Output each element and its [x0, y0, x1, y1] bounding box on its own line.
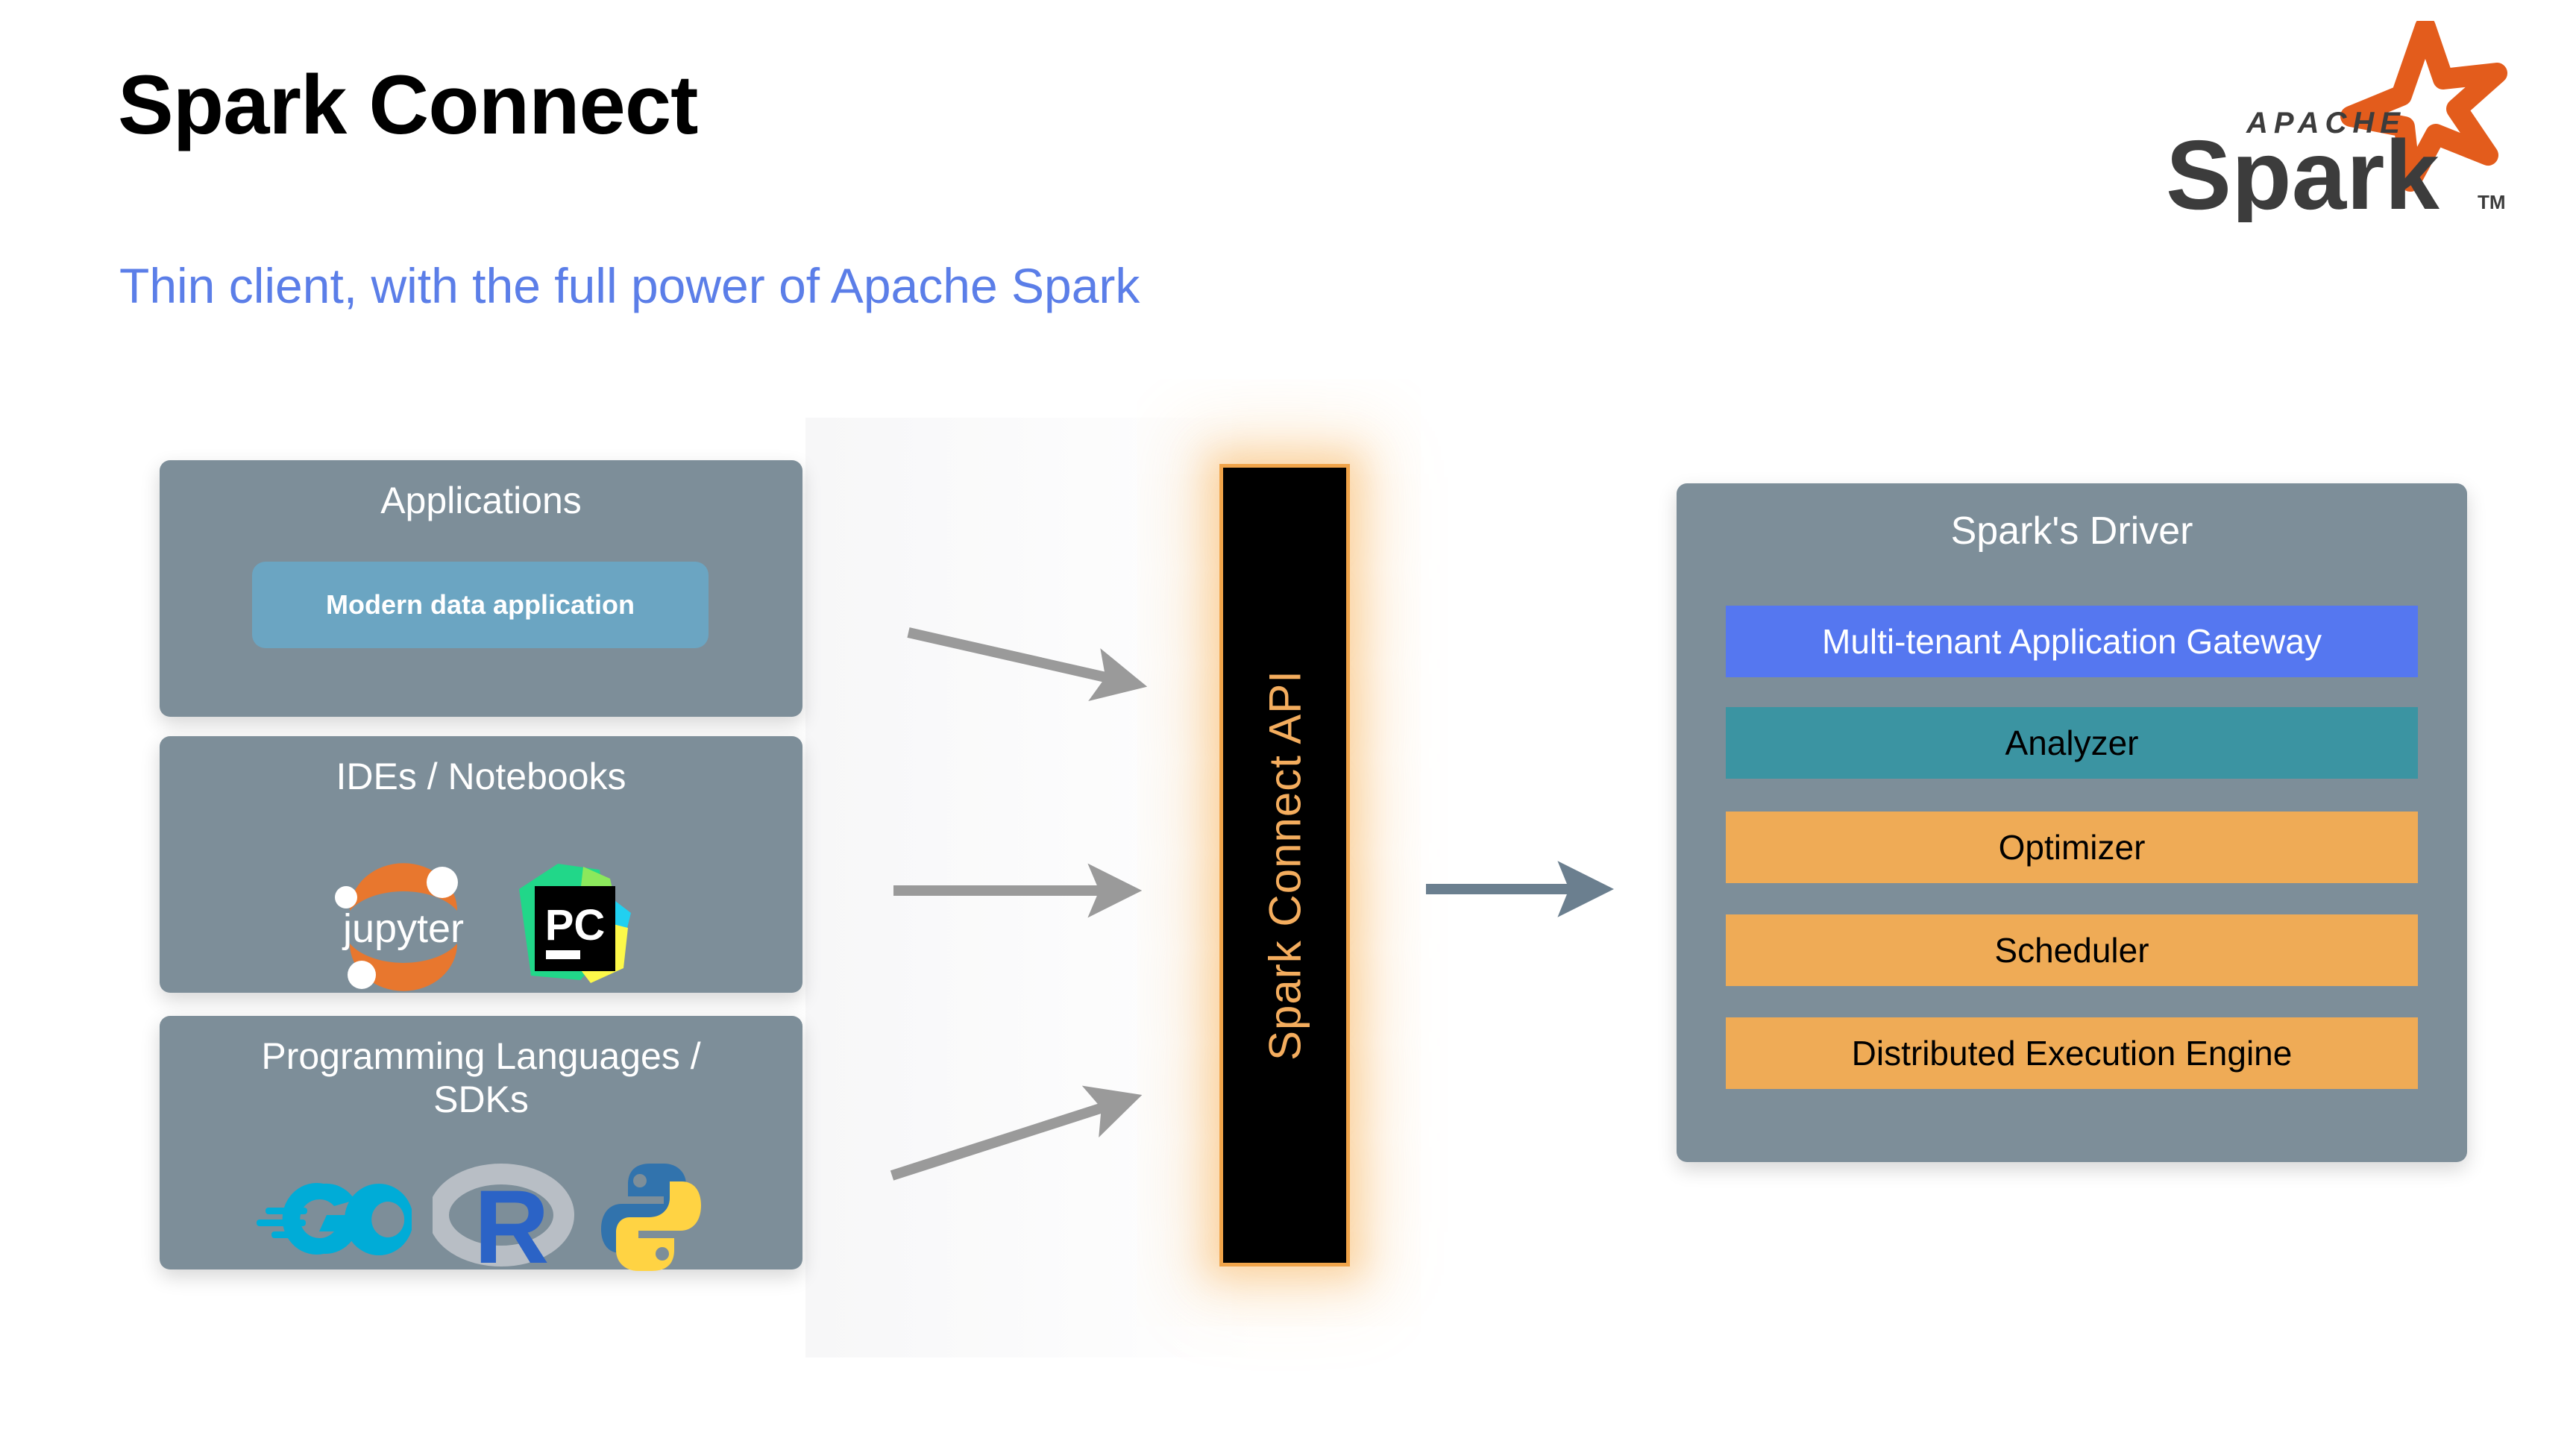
arrow-languages-to-api: [892, 1104, 1114, 1176]
modern-data-application-pill[interactable]: Modern data application: [252, 562, 709, 648]
background-sheen: [805, 418, 1268, 1357]
client-box-title-line-1: Programming Languages /: [160, 1035, 802, 1079]
jupyter-logo: jupyter: [324, 847, 485, 996]
pycharm-logo: PC: [512, 856, 638, 987]
spark-connect-api-label: Spark Connect API: [1259, 670, 1310, 1061]
page-subtitle: Thin client, with the full power of Apac…: [119, 261, 1140, 310]
client-box-title: Programming Languages / SDKs: [160, 1016, 802, 1121]
r-letter: R: [474, 1168, 549, 1273]
go-logo: [255, 1169, 412, 1266]
jupyter-wordmark: jupyter: [341, 906, 463, 951]
jupyter-dot-bottom: [348, 961, 376, 989]
page-title: Spark Connect: [118, 63, 697, 147]
go-wordmark: [283, 1183, 412, 1255]
python-logo: [595, 1158, 707, 1277]
client-box-ides-notebooks[interactable]: IDEs / Notebooks jupyter: [160, 736, 802, 993]
client-box-title-line-2: SDKs: [160, 1079, 802, 1122]
jupyter-dot-top: [427, 867, 458, 898]
slide-canvas: Spark Connect Thin client, with the full…: [0, 0, 2576, 1447]
driver-row-scheduler[interactable]: Scheduler: [1726, 914, 2418, 986]
spark-connect-api-bar[interactable]: Spark Connect API: [1219, 464, 1350, 1266]
jupyter-dot-left: [335, 886, 357, 908]
trademark-mark: TM: [2478, 191, 2506, 213]
ide-logo-row: jupyter PC: [160, 847, 802, 996]
language-logo-row: R: [160, 1158, 802, 1277]
client-box-title: Applications: [160, 460, 802, 523]
apache-spark-logo: APACHE Spark TM: [2151, 21, 2524, 222]
client-box-applications[interactable]: Applications Modern data application: [160, 460, 802, 717]
driver-row-distributed-execution-engine[interactable]: Distributed Execution Engine: [1726, 1017, 2418, 1089]
driver-row-multi-tenant-application-gateway[interactable]: Multi-tenant Application Gateway: [1726, 606, 2418, 677]
client-box-title: IDEs / Notebooks: [160, 736, 802, 799]
pycharm-wordmark: PC: [544, 901, 605, 950]
arrow-applications-to-api: [908, 633, 1119, 680]
driver-row-analyzer[interactable]: Analyzer: [1726, 707, 2418, 779]
sparks-driver-title: Spark's Driver: [1677, 483, 2467, 553]
sparks-driver-box[interactable]: Spark's Driver Multi-tenant Application …: [1677, 483, 2467, 1162]
driver-row-optimizer[interactable]: Optimizer: [1726, 812, 2418, 883]
pycharm-underscore-icon: [546, 950, 580, 959]
client-box-programming-languages[interactable]: Programming Languages / SDKs: [160, 1016, 802, 1269]
spark-wordmark: Spark: [2166, 120, 2440, 222]
r-logo: R: [433, 1161, 574, 1273]
